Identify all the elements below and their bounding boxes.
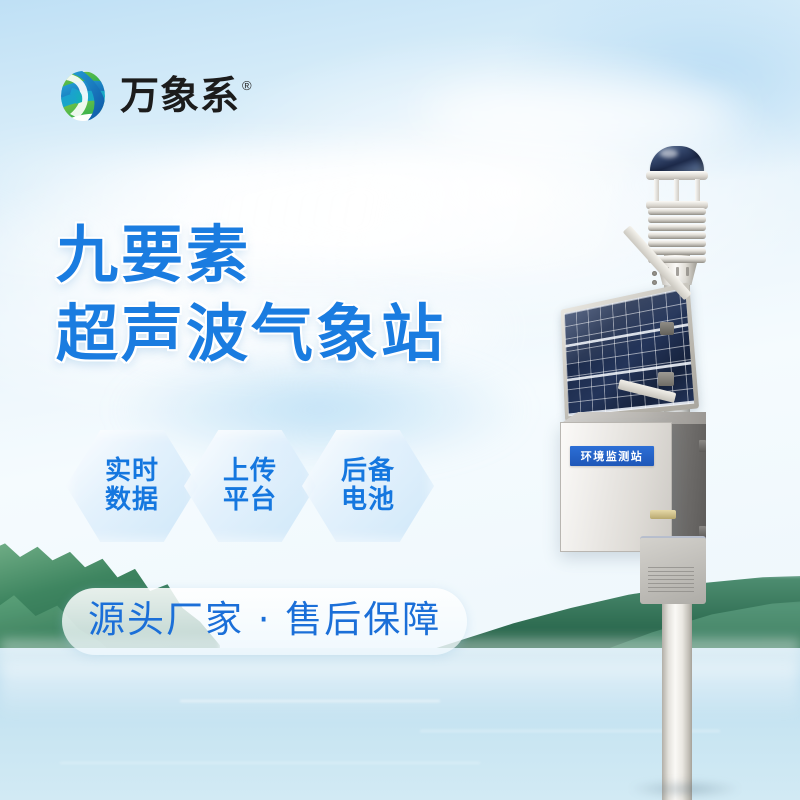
mounting-pole-lower <box>662 570 692 800</box>
tagline-text: 源头厂家 · 售后保障 <box>88 599 441 642</box>
badge-line-1: 后备 <box>341 457 395 486</box>
shield-disc <box>648 208 706 215</box>
neck-vent-slot <box>676 267 679 276</box>
vent-grille <box>648 564 694 592</box>
neck-indicator <box>652 280 657 285</box>
sensor-cage <box>652 179 702 203</box>
product-illustration: 环境监测站 <box>500 140 800 800</box>
badge-backup-battery[interactable]: 后备 电池 <box>302 430 434 542</box>
brand-name: 万象系 <box>120 77 240 116</box>
enclosure-latch <box>650 510 676 519</box>
badge-upload-platform[interactable]: 上传 平台 <box>184 430 316 542</box>
enclosure-hinge <box>699 440 706 452</box>
enclosure-label: 环境监测站 <box>570 446 654 466</box>
brand-logo: 万象系 ® <box>56 68 252 124</box>
badge-line-1: 上传 <box>223 457 277 486</box>
badge-line-2: 数据 <box>105 486 159 515</box>
page-title: 九要素 超声波气象站 <box>56 222 446 368</box>
neck-indicator <box>652 271 657 276</box>
cage-post <box>695 179 700 203</box>
pole-clamp-upper <box>660 322 674 335</box>
badge-realtime-data[interactable]: 实时 数据 <box>66 430 198 542</box>
tagline-pill: 源头厂家 · 售后保障 <box>62 588 467 655</box>
shield-disc <box>648 224 706 231</box>
badge-line-2: 电池 <box>341 486 395 515</box>
badge-label: 上传 平台 <box>223 457 277 515</box>
pole-ground-shadow <box>630 780 740 798</box>
dome-highlight <box>660 149 678 158</box>
badge-line-2: 平台 <box>223 486 277 515</box>
globe-swirl-icon <box>56 68 110 124</box>
trademark-symbol: ® <box>242 79 252 92</box>
badge-label: 后备 电池 <box>341 457 395 515</box>
shield-disc <box>648 216 706 223</box>
neck-vent-slot <box>686 267 689 276</box>
water-ripple <box>180 700 440 702</box>
enclosure-label-text: 环境监测站 <box>581 451 644 462</box>
shield-disc <box>648 240 706 247</box>
brand-wordmark: 万象系 ® <box>120 77 252 116</box>
pole-clamp-lower <box>658 372 674 386</box>
solar-panel <box>561 282 699 421</box>
badge-label: 实时 数据 <box>105 457 159 515</box>
shield-disc <box>648 232 706 239</box>
headline-line-2: 超声波气象站 <box>56 301 446 368</box>
feature-badge-group: 实时 数据 上传 平台 后备 电池 <box>66 430 420 542</box>
badge-line-1: 实时 <box>105 457 159 486</box>
controller-enclosure <box>560 422 672 552</box>
ultrasonic-sensor-dome <box>650 146 704 174</box>
product-poster: 万象系 ® 九要素 超声波气象站 实时 数据 上传 平台 后备 电池 <box>0 0 800 800</box>
headline-line-1: 九要素 <box>56 222 446 289</box>
cage-post <box>674 179 679 203</box>
cage-post <box>654 179 659 203</box>
water-ripple <box>60 762 480 764</box>
